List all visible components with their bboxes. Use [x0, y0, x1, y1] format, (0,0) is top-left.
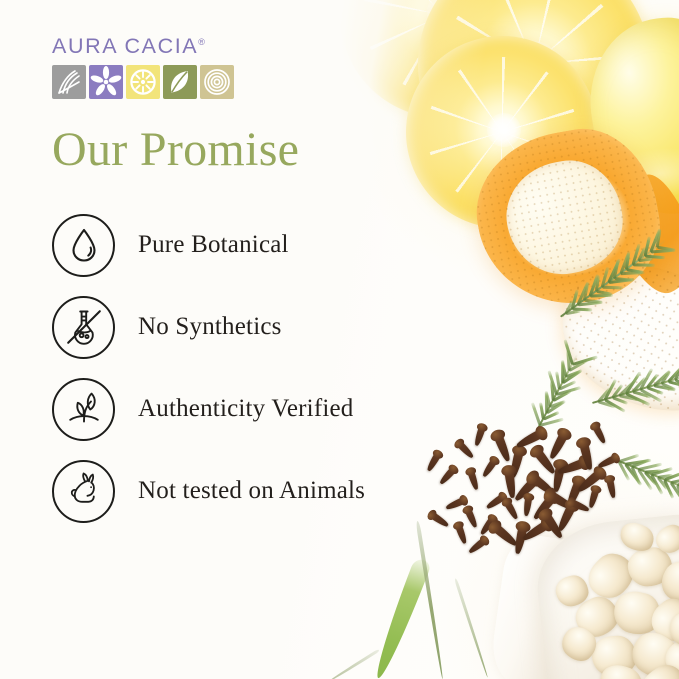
promise-label: Authenticity Verified [138, 395, 354, 423]
promise-label: No Synthetics [138, 313, 282, 341]
logo-tile-concentric-rings [200, 65, 234, 99]
promise-list: Pure Botanical [52, 204, 442, 532]
logo-tile-citrus-slice [126, 65, 160, 99]
logo-tile-flower [89, 65, 123, 99]
promise-label: Not tested on Animals [138, 477, 365, 505]
logo-tile-grass-blades [52, 65, 86, 99]
page-title: Our Promise [52, 126, 299, 174]
brand-wordmark: AURA CACIA® [52, 36, 234, 58]
brand-logo[interactable]: AURA CACIA® [52, 36, 234, 99]
logo-tile-leaf [163, 65, 197, 99]
promise-content: AURA CACIA® [0, 0, 440, 679]
promise-item-not-tested-on-animals: Not tested on Animals [52, 450, 442, 532]
product-promise-banner: AURA CACIA® [0, 0, 679, 679]
rabbit-icon [52, 460, 115, 523]
promise-label: Pure Botanical [138, 231, 289, 259]
registered-trademark-icon: ® [198, 37, 205, 47]
promise-item-authenticity-verified: Authenticity Verified [52, 368, 442, 450]
water-droplet-icon [52, 214, 115, 277]
sprout-icon [52, 378, 115, 441]
promise-item-no-synthetics: No Synthetics [52, 286, 442, 368]
brand-logo-tiles [52, 65, 234, 99]
promise-item-pure-botanical: Pure Botanical [52, 204, 442, 286]
brand-name: AURA CACIA [52, 34, 198, 58]
no-flask-icon [52, 296, 115, 359]
